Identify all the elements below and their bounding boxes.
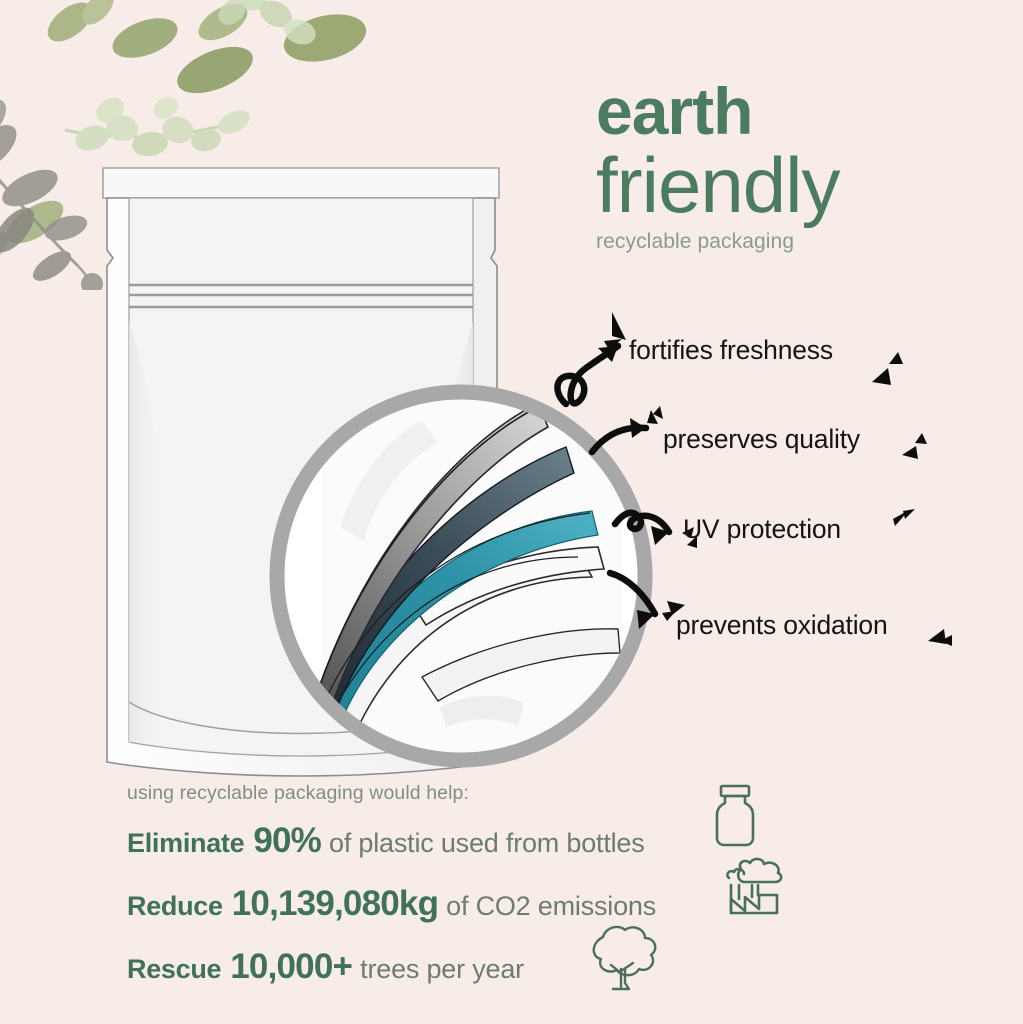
stat-tail: trees per year (360, 954, 524, 985)
feature-label-uv-protection: UV protection (683, 514, 841, 545)
stat-tail: of plastic used from bottles (329, 828, 645, 859)
stat-value: 10,000+ (230, 947, 352, 987)
stat-verb: Eliminate (127, 828, 244, 859)
bottle-icon (711, 783, 759, 849)
headline-block: earth friendly recyclable packaging (596, 78, 1016, 254)
stat-tail: of CO2 emissions (446, 891, 656, 922)
feature-label-preserves-quality: preserves quality (663, 424, 860, 455)
headline-line-2: friendly (596, 146, 1016, 224)
feature-label-prevents-oxidation: prevents oxidation (676, 610, 887, 641)
tree-icon (573, 921, 665, 993)
stat-row-rescue: Rescue 10,000+ trees per year (127, 947, 827, 987)
factory-icon (719, 855, 791, 919)
magnifier-circle (262, 377, 660, 775)
headline-line-1: earth (596, 78, 1016, 144)
stat-value: 90% (253, 821, 321, 861)
headline-subtitle: recyclable packaging (596, 230, 1016, 254)
earth-friendly-infographic: earth friendly recyclable packaging (0, 0, 1023, 1024)
feature-label-fortifies-freshness: fortifies freshness (629, 335, 833, 366)
stat-verb: Reduce (127, 891, 223, 922)
stat-verb: Rescue (127, 954, 221, 985)
stat-value: 10,139,080kg (232, 884, 438, 924)
